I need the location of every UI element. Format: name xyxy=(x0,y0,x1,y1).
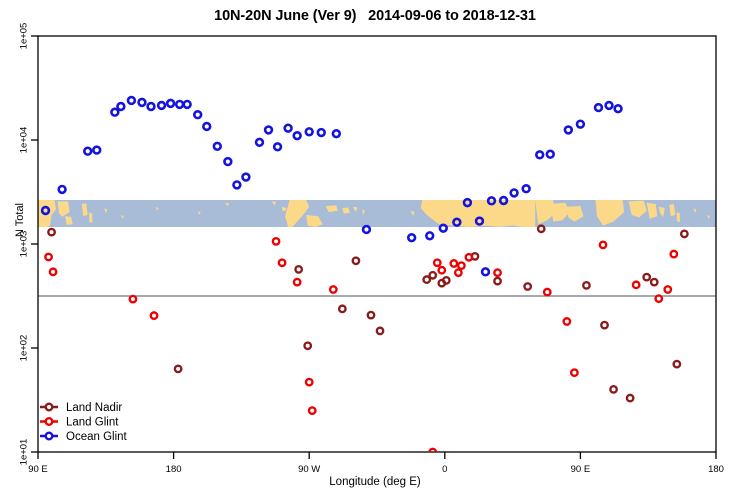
data-point xyxy=(176,101,183,108)
data-point xyxy=(439,267,445,273)
data-point xyxy=(353,258,359,264)
data-point xyxy=(600,242,606,248)
data-point xyxy=(430,272,436,278)
x-tick-label: 0 xyxy=(442,464,447,475)
data-point xyxy=(523,185,530,192)
data-point xyxy=(665,286,671,292)
data-point xyxy=(610,386,616,392)
data-point xyxy=(294,132,301,139)
data-point xyxy=(627,395,633,401)
data-point xyxy=(84,148,91,155)
data-point xyxy=(306,128,313,135)
data-point xyxy=(304,343,310,349)
data-point xyxy=(294,279,300,285)
data-points xyxy=(42,97,687,455)
data-point xyxy=(175,366,181,372)
data-point xyxy=(194,111,201,118)
chart-figure: 10N-20N June (Ver 9) 2014-09-06 to 2018-… xyxy=(0,0,750,500)
data-point xyxy=(224,158,231,165)
y-tick-label: 1e+02 xyxy=(19,335,30,362)
plot-area: 1e+011e+021e+031e+041e+0590 E18090 W090 … xyxy=(0,0,750,500)
data-point xyxy=(564,318,570,324)
data-point xyxy=(151,312,157,318)
data-point xyxy=(273,238,279,244)
data-point xyxy=(524,283,530,289)
data-point xyxy=(615,105,622,112)
data-point xyxy=(330,286,336,292)
data-point xyxy=(274,143,281,150)
legend-marker xyxy=(46,418,53,425)
data-point xyxy=(656,295,662,301)
data-point xyxy=(306,379,312,385)
data-point xyxy=(443,277,449,283)
data-point xyxy=(285,125,292,132)
data-point xyxy=(651,279,657,285)
data-point xyxy=(233,182,240,189)
data-point xyxy=(59,186,66,193)
data-point xyxy=(158,102,165,109)
data-point xyxy=(536,151,543,158)
data-point xyxy=(318,129,325,136)
data-point xyxy=(130,296,136,302)
data-point xyxy=(494,269,500,275)
data-point xyxy=(538,226,544,232)
data-point xyxy=(606,102,613,109)
data-point xyxy=(482,268,489,275)
data-point xyxy=(117,103,124,110)
series-land-glint xyxy=(45,238,677,455)
data-point xyxy=(48,229,54,235)
data-point xyxy=(511,189,518,196)
data-point xyxy=(167,100,174,107)
x-tick-label: 90 E xyxy=(571,464,591,475)
y-tick-label: 1e+04 xyxy=(19,127,30,154)
data-point xyxy=(458,262,464,268)
data-point xyxy=(434,260,440,266)
data-point xyxy=(674,361,680,367)
legend-marker xyxy=(46,433,53,440)
data-point xyxy=(577,121,584,128)
data-point xyxy=(565,127,572,134)
data-point xyxy=(256,139,263,146)
series-ocean-glint xyxy=(42,97,621,275)
data-point xyxy=(309,407,315,413)
data-point xyxy=(643,274,649,280)
data-point xyxy=(333,130,340,137)
data-point xyxy=(111,109,118,116)
data-point xyxy=(426,232,433,239)
data-point xyxy=(45,254,51,260)
data-point xyxy=(363,226,370,233)
data-point xyxy=(547,151,554,158)
map-overlay-band xyxy=(38,200,716,227)
legend-marker xyxy=(46,404,53,411)
data-point xyxy=(451,260,457,266)
data-point xyxy=(265,127,272,134)
x-tick-label: 180 xyxy=(166,464,182,475)
data-point xyxy=(595,104,602,111)
data-point xyxy=(633,282,639,288)
y-tick-label: 1e+03 xyxy=(19,231,30,258)
x-tick-label: 90 E xyxy=(28,464,48,475)
data-point xyxy=(671,251,677,257)
data-point xyxy=(93,147,100,154)
data-point xyxy=(128,97,135,104)
data-point xyxy=(295,266,301,272)
data-point xyxy=(571,369,577,375)
chart-legend: Land NadirLand GlintOcean Glint xyxy=(40,402,128,443)
axis-ticks: 1e+011e+021e+031e+041e+0590 E18090 W090 … xyxy=(19,23,724,475)
data-point xyxy=(339,306,345,312)
legend-label: Land Nadir xyxy=(66,402,122,414)
data-point xyxy=(455,269,461,275)
data-point xyxy=(203,123,210,130)
x-tick-label: 90 W xyxy=(298,464,320,475)
data-point xyxy=(279,260,285,266)
data-point xyxy=(601,322,607,328)
data-point xyxy=(139,99,146,106)
data-point xyxy=(50,269,56,275)
data-point xyxy=(681,231,687,237)
data-point xyxy=(184,101,191,108)
legend-label: Ocean Glint xyxy=(66,431,128,443)
data-point xyxy=(214,143,221,150)
x-tick-label: 180 xyxy=(708,464,724,475)
data-point xyxy=(148,103,155,110)
data-point xyxy=(377,328,383,334)
data-point xyxy=(583,282,589,288)
y-tick-label: 1e+05 xyxy=(19,23,30,50)
data-point xyxy=(368,312,374,318)
data-point xyxy=(440,225,447,232)
data-point xyxy=(243,174,250,181)
data-point xyxy=(466,254,472,260)
y-tick-label: 1e+01 xyxy=(19,439,30,466)
data-point xyxy=(544,289,550,295)
series-land-nadir xyxy=(48,226,687,402)
data-point xyxy=(408,234,415,241)
data-point xyxy=(494,278,500,284)
legend-label: Land Glint xyxy=(66,417,119,429)
